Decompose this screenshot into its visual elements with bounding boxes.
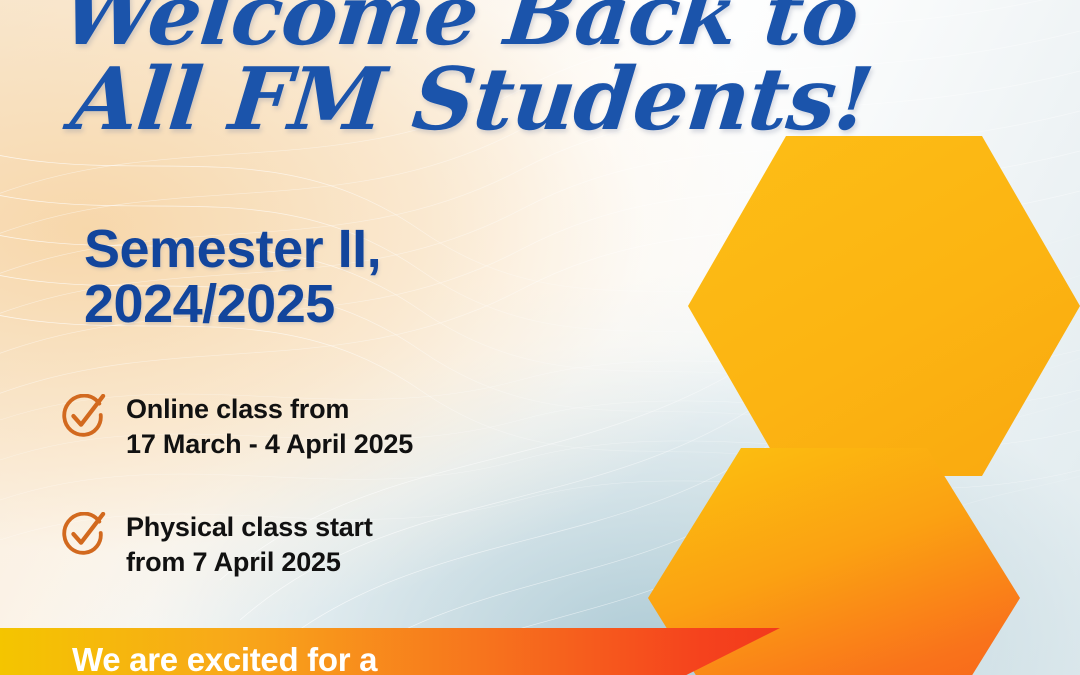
check-circle-icon bbox=[60, 512, 106, 558]
poster-canvas: Welcome Back to All FM Students! Semeste… bbox=[0, 0, 1080, 675]
banner-text: We are excited for a bbox=[0, 628, 780, 675]
headline-block: Welcome Back to All FM Students! bbox=[62, 0, 822, 143]
bullet-list: Online class from 17 March - 4 April 202… bbox=[60, 392, 660, 628]
headline-line-2: All FM Students! bbox=[68, 58, 827, 142]
list-item-label: Physical class start from 7 April 2025 bbox=[126, 510, 373, 580]
lecture-hall-group-photo bbox=[688, 136, 1080, 476]
check-circle-icon bbox=[60, 394, 106, 440]
headline-line-1: Welcome Back to bbox=[58, 0, 827, 56]
hexagon-frame-yellow bbox=[688, 136, 1080, 476]
list-item: Online class from 17 March - 4 April 202… bbox=[60, 392, 660, 462]
semester-heading: Semester II, 2024/2025 bbox=[84, 222, 381, 332]
list-item: Physical class start from 7 April 2025 bbox=[60, 510, 660, 580]
list-item-label: Online class from 17 March - 4 April 202… bbox=[126, 392, 413, 462]
